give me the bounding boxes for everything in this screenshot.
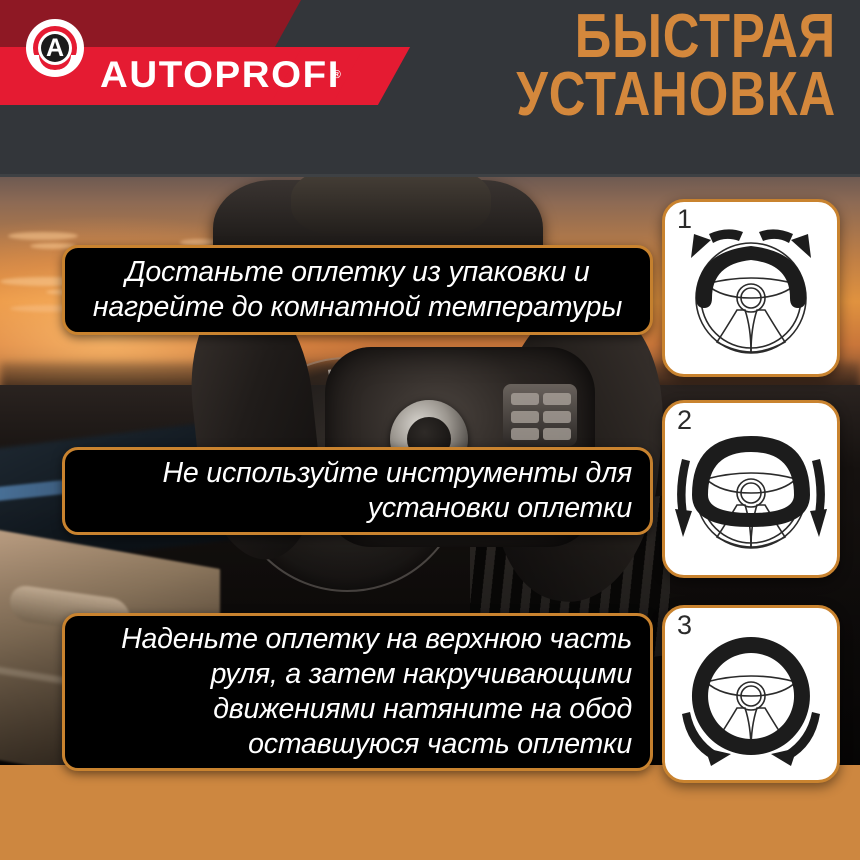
brand-wordmark: AUTOPROFI ® — [100, 44, 341, 106]
header-bar: A AUTOPROFI ® БЫСТРАЯ УСТАНОВКА — [0, 0, 860, 177]
step-2-card: 2 — [662, 400, 840, 578]
brand-text: AUTOPROFI — [100, 54, 340, 96]
step-3-card: 3 — [662, 605, 840, 783]
steering-wheel-cover-top-icon — [665, 202, 837, 374]
step-1-callout: Достаньте оплетку из упаковки и нагрейте… — [62, 245, 653, 335]
page-title: БЫСТРАЯ УСТАНОВКА — [366, 8, 836, 123]
step-3-text: Наденьте оплетку на верхнюю часть руля, … — [83, 622, 632, 762]
poster-root: A AUTOPROFI ® БЫСТРАЯ УСТАНОВКА Достаньт… — [0, 0, 860, 860]
step-3-callout: Наденьте оплетку на верхнюю часть руля, … — [62, 613, 653, 771]
header-bottom-line — [0, 174, 860, 177]
step-2-callout: Не используйте инструменты для установки… — [62, 447, 653, 535]
page-title-line-1: БЫСТРАЯ — [451, 8, 836, 66]
page-title-line-2: УСТАНОВКА — [451, 66, 836, 124]
step-1-text: Достаньте оплетку из упаковки и нагрейте… — [83, 255, 632, 325]
step-1-card: 1 — [662, 199, 840, 377]
steering-wheel-cover-full-icon — [665, 608, 837, 780]
step-2-text: Не используйте инструменты для установки… — [83, 456, 632, 526]
steering-wheel-cover-sides-icon — [665, 403, 837, 575]
